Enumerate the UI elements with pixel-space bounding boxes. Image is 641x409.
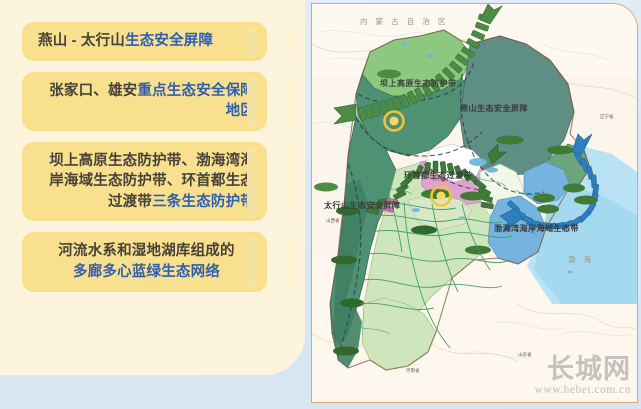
info-card-text-3: 坝上高原生态防护带、渤海湾海岸海域生态防护带、环首都生态过渡带三条生态防护带 — [38, 151, 255, 213]
card2-seg2: 重点生态安全保障地区 — [137, 83, 255, 120]
card-wrapper-blue-green-network: 河流水系和湿地湖库组成的多廊多心蓝绿生态网络 — [22, 232, 294, 291]
card4-accent-strip — [247, 236, 255, 287]
map-label-beijing: 北京市 — [432, 176, 446, 182]
info-card-list: 燕山 - 太行山生态安全屏障 张家口、雄安重点生态安全保障地区 坝上高原生态防护… — [22, 22, 294, 303]
screenshot-root: 燕山 - 太行山生态安全屏障 张家口、雄安重点生态安全保障地区 坝上高原生态防护… — [0, 0, 641, 409]
map-label-tianjin: 天津市 — [480, 202, 494, 208]
info-card-zhangjiakou-xiongan[interactable]: 张家口、雄安重点生态安全保障地区 — [22, 72, 267, 131]
card1-seg1: 燕山 - 太行山 — [38, 33, 125, 49]
card3-accent-strip — [247, 146, 255, 218]
info-card-yanshan-taihang[interactable]: 燕山 - 太行山生态安全屏障 — [22, 22, 267, 61]
info-card-blue-green-network[interactable]: 河流水系和湿地湖库组成的多廊多心蓝绿生态网络 — [22, 232, 267, 291]
card1-outer-strip — [285, 23, 294, 60]
info-card-text-4: 河流水系和湿地湖库组成的多廊多心蓝绿生态网络 — [38, 241, 255, 282]
map-label-shanxi: 山西省 — [326, 218, 340, 224]
card1-accent-strip — [247, 26, 255, 57]
info-card-three-belts[interactable]: 坝上高原生态防护带、渤海湾海岸海域生态防护带、环首都生态过渡带三条生态防护带 — [22, 142, 267, 222]
card2-seg1: 张家口、雄安 — [49, 83, 137, 99]
map-label-bohai-sea: 渤 海 — [568, 254, 594, 265]
map-label-taihang-barrier: 太行山生态安全屏障 — [324, 200, 401, 211]
map-label-inner-mongolia: 内 蒙 古 自 治 区 — [360, 16, 448, 27]
card2-outer-strip — [285, 73, 294, 130]
card2-accent-strip — [247, 76, 255, 127]
map-label-henan: 河南省 — [406, 368, 420, 374]
card3-outer-strip — [285, 143, 294, 221]
card3-seg2: 三条生态防护带 — [152, 194, 255, 210]
map-label-liaoning: 辽宁省 — [600, 114, 614, 120]
map-label-shandong: 山东省 — [518, 352, 532, 358]
map-canvas: 内 蒙 古 自 治 区 坝上高原生态防护带 燕山生态安全屏障 环首都生态过渡带 … — [312, 4, 637, 402]
map-label-bashang-belt: 坝上高原生态防护带 — [380, 78, 457, 89]
card-wrapper-yanshan-taihang: 燕山 - 太行山生态安全屏障 — [22, 22, 294, 61]
map-label-bohai-coastal-belt: 渤海湾海岸海域生态带 — [494, 223, 579, 234]
map-panel[interactable]: 内 蒙 古 自 治 区 坝上高原生态防护带 燕山生态安全屏障 环首都生态过渡带 … — [311, 3, 638, 403]
map-label-yanshan-barrier: 燕山生态安全屏障 — [460, 103, 528, 114]
card1-seg2: 生态安全屏障 — [125, 33, 213, 49]
info-card-text-1: 燕山 - 太行山生态安全屏障 — [38, 31, 255, 52]
card4-seg1: 河流水系和湿地湖库组成的 — [58, 243, 234, 259]
card4-outer-strip — [285, 233, 294, 290]
card-wrapper-three-belts: 坝上高原生态防护带、渤海湾海岸海域生态防护带、环首都生态过渡带三条生态防护带 — [22, 142, 294, 222]
card4-seg2: 多廊多心蓝绿生态网络 — [73, 264, 220, 280]
card-wrapper-zhangjiakou-xiongan: 张家口、雄安重点生态安全保障地区 — [22, 72, 294, 131]
info-card-text-2: 张家口、雄安重点生态安全保障地区 — [38, 81, 255, 122]
